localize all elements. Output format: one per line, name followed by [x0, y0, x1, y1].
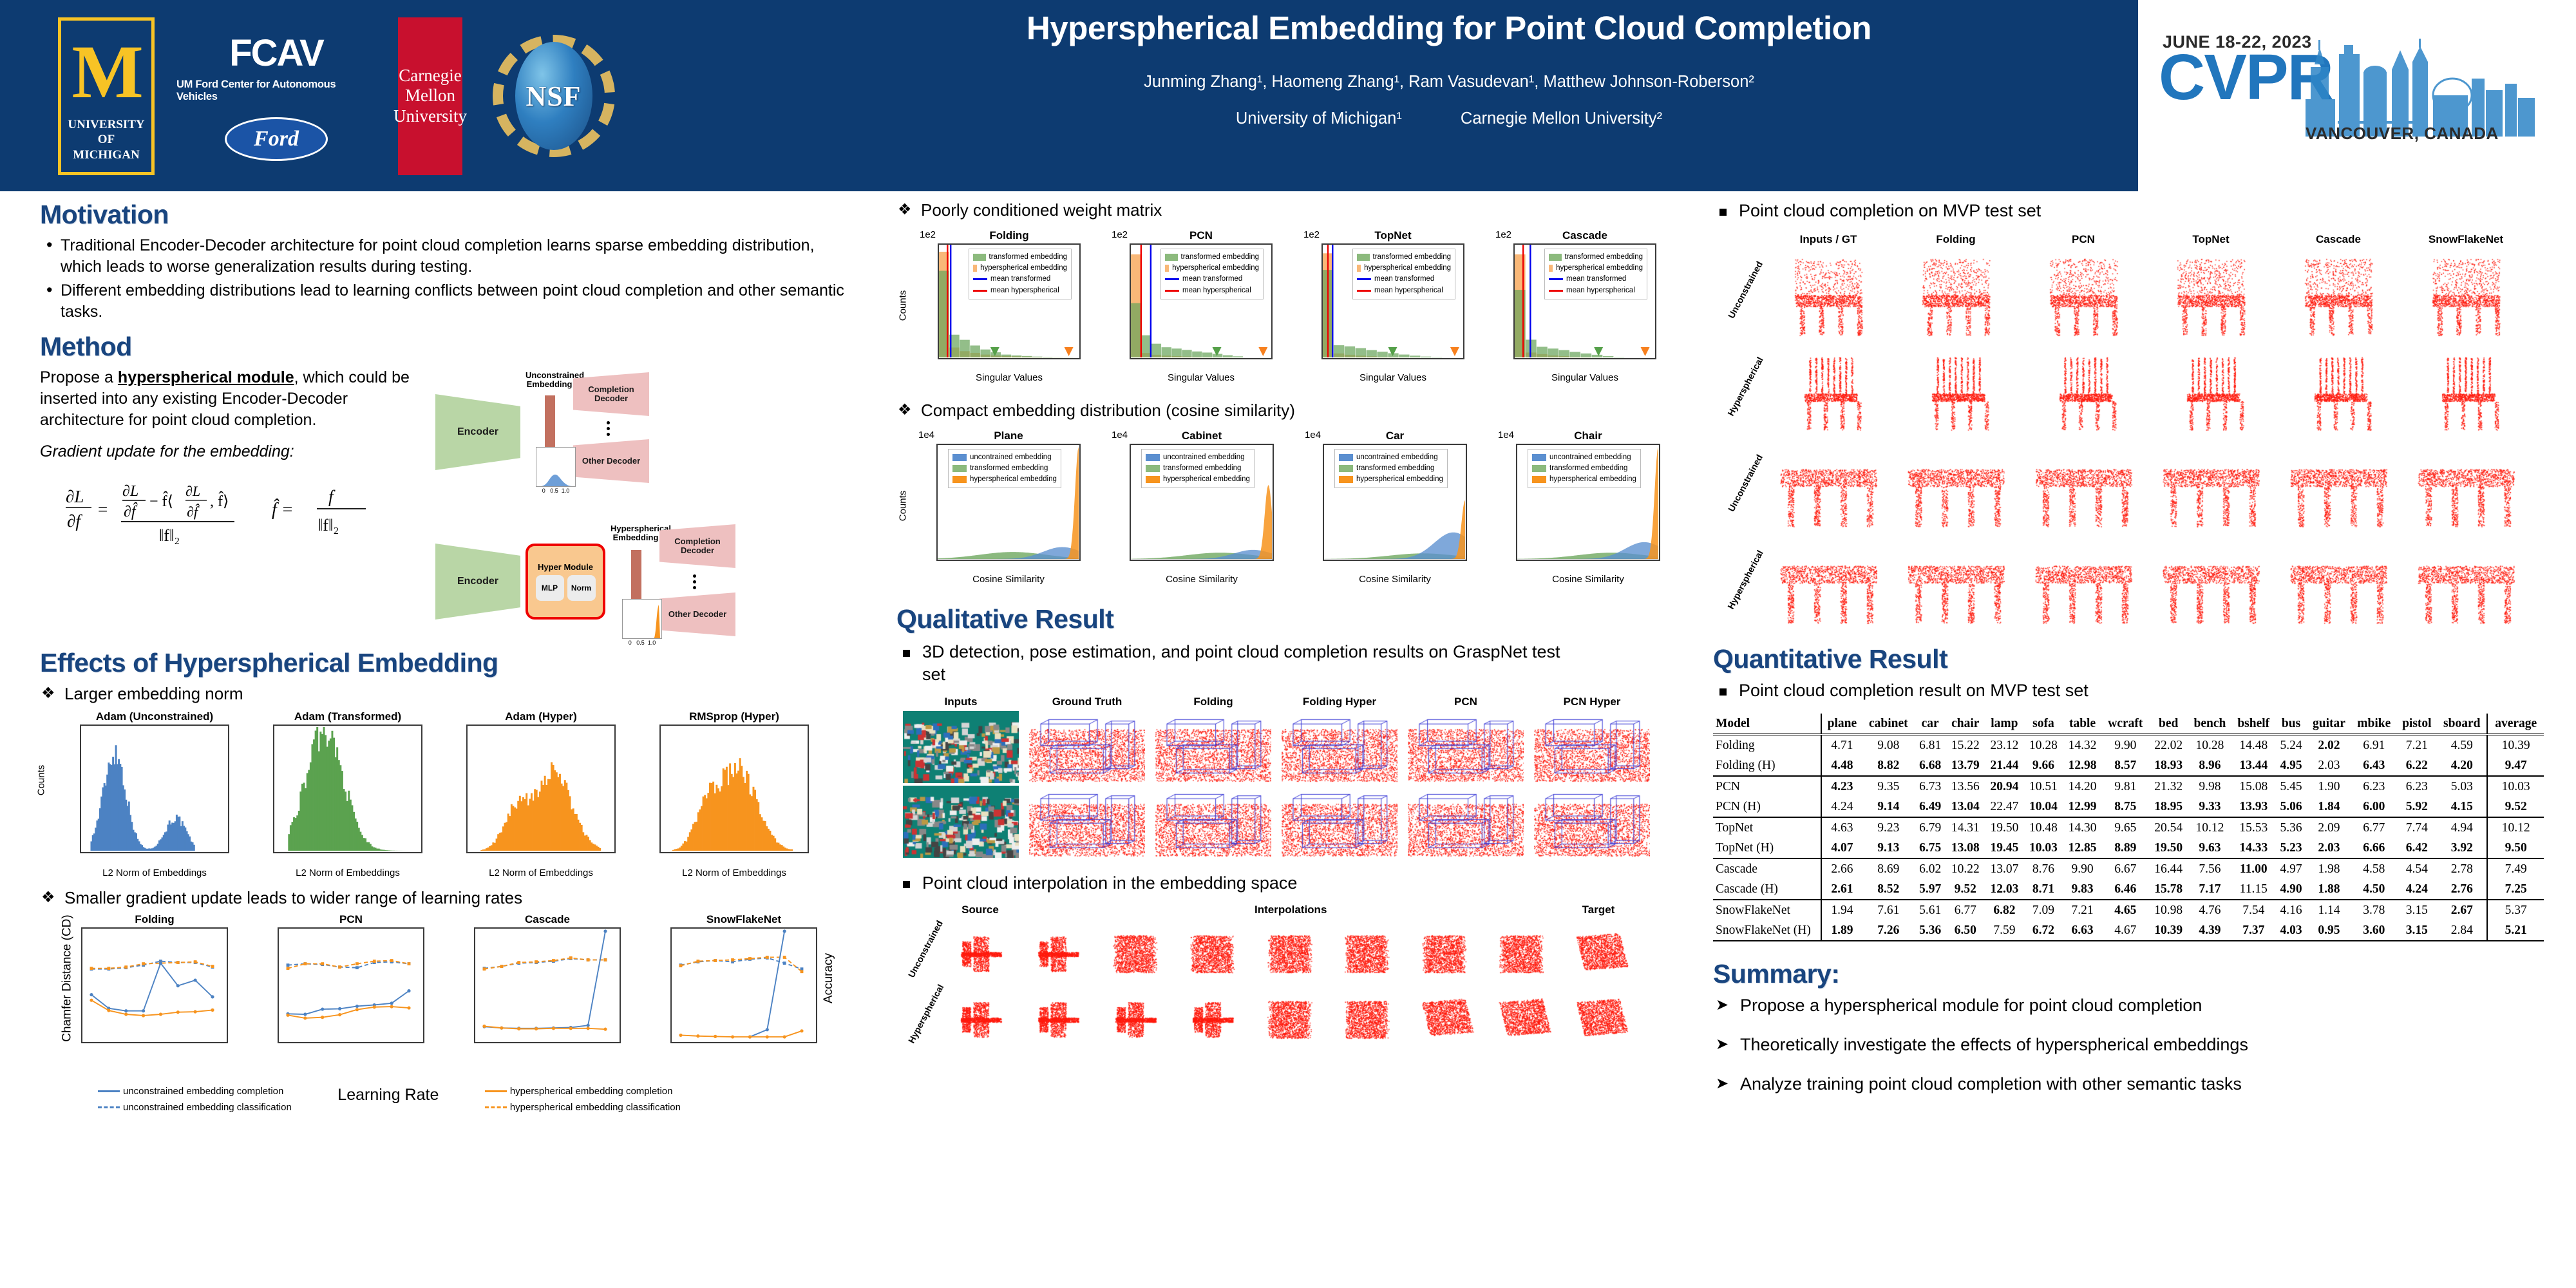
- x-axis-label: L2 Norm of Embeddings: [466, 867, 616, 878]
- method-paragraph: Propose a hyperspherical module, which c…: [40, 367, 426, 431]
- mvp-cell: [1768, 344, 1888, 439]
- lr-legend-blue: unconstrained embedding completionuncons…: [98, 1083, 292, 1116]
- table-cell: 3.92: [2437, 838, 2487, 858]
- legend-swatch-icon: [973, 254, 986, 261]
- x-axis-label: Singular Values: [1513, 372, 1656, 383]
- graspnet-row: [903, 711, 1689, 783]
- norm-box: Norm: [567, 575, 596, 601]
- table-cell: 4.24: [1821, 797, 1862, 817]
- table-cell: 14.48: [2231, 735, 2275, 756]
- mlp-box: MLP: [536, 575, 564, 601]
- mini-hist-ticks-2: 0 0.5 1.0: [622, 639, 662, 646]
- table-cell: 7.17: [2188, 879, 2231, 900]
- table-cell: 5.03: [2437, 776, 2487, 797]
- um-m-glyph: M: [71, 36, 140, 108]
- mvp-cell: [1768, 440, 1888, 536]
- svg-text:∂L: ∂L: [185, 483, 200, 499]
- table-cell: 7.37: [2231, 920, 2275, 942]
- legend-label: uncontrained embedding: [1356, 452, 1438, 463]
- table-cell: 1.14: [2307, 900, 2351, 920]
- table-cell: 5.06: [2275, 797, 2307, 817]
- table-cell: 13.08: [1946, 838, 1985, 858]
- graspnet-cell: [1282, 711, 1397, 783]
- affiliation-2: Carnegie Mellon University²: [1461, 109, 1662, 128]
- legend-swatch-icon: [1146, 454, 1160, 461]
- table-cell: 9.81: [2102, 776, 2149, 797]
- table-cell: 1.98: [2307, 858, 2351, 879]
- fcav-wordmark: FCAV: [229, 32, 323, 75]
- table-cell: 9.63: [2188, 838, 2231, 858]
- gradient-update-label: Gradient update for the embedding:: [40, 441, 426, 462]
- point-cloud-canvas: [1534, 711, 1650, 783]
- plot-area: 020040060080050010001500: [466, 724, 616, 853]
- table-cell: 10.28: [2188, 735, 2231, 756]
- legend-label: uncontrained embedding: [970, 452, 1052, 463]
- interp-cell: [1100, 989, 1170, 1050]
- table-cell: 12.99: [2063, 797, 2102, 817]
- mvp-bullet: Point cloud completion on MVP test set: [1713, 200, 2544, 223]
- legend-label: transformed embedding: [1565, 252, 1643, 263]
- table-cell: 8.96: [2188, 755, 2231, 776]
- method-para-emphasis: hyperspherical module: [118, 368, 294, 386]
- interp-cell: [1023, 923, 1092, 985]
- y-exponent: 1e4: [1498, 430, 1514, 440]
- table-cell: 5.21: [2487, 920, 2544, 942]
- table-cell: 9.35: [1862, 776, 1915, 797]
- graspnet-col-label: Folding: [1155, 696, 1271, 708]
- y-exponent: 1e2: [1303, 229, 1320, 240]
- legend-label: transformed embedding: [970, 463, 1048, 474]
- graspnet-row: [903, 786, 1689, 858]
- plot-area: 02004006008001.01.52.0: [80, 724, 229, 853]
- interp-cell: [1100, 923, 1170, 985]
- table-cell: 5.45: [2275, 776, 2307, 797]
- table-cell: 4.03: [2275, 920, 2307, 942]
- interp-cell: [1255, 923, 1324, 985]
- mvp-col-label: Inputs / GT: [1768, 233, 1888, 246]
- legend-swatch-icon: [1357, 254, 1370, 261]
- table-cell: 6.77: [2351, 817, 2396, 838]
- legend-row: transformed embedding: [1549, 252, 1643, 263]
- plot-area: 024680.40.60.81.0uncontrained embeddingt…: [936, 444, 1081, 561]
- page-title: Hyperspherical Embedding for Point Cloud…: [837, 9, 2061, 47]
- table-cell: 6.72: [2024, 920, 2063, 942]
- table-cell: 1.94: [1821, 900, 1862, 920]
- table-cell: 6.02: [1915, 858, 1946, 879]
- graspnet-cell: [1029, 711, 1145, 783]
- embedding-norm-panel-0: Adam (Unconstrained)02004006008001.01.52…: [40, 710, 233, 878]
- table-cell: 7.56: [2188, 858, 2231, 879]
- table-cell: 4.39: [2188, 920, 2231, 942]
- sponsor-logos: M UNIVERSITY OF MICHIGAN FCAV UM Ford Ce…: [58, 12, 623, 180]
- column-header: Model: [1713, 714, 1821, 735]
- table-cell: 6.50: [1946, 920, 1985, 942]
- table-cell: 13.79: [1946, 755, 1985, 776]
- interp-col-headers: SourceInterpolationsTarget: [945, 904, 1689, 919]
- table-header-row: Modelplanecabinetcarchairlampsofatablewc…: [1713, 714, 2544, 735]
- point-cloud-canvas: [2023, 440, 2143, 536]
- table-cell: 6.75: [1915, 838, 1946, 858]
- y-axis-label-right: Accuracy: [822, 953, 836, 1003]
- point-cloud-canvas: [2023, 344, 2143, 439]
- column-left: Motivation Traditional Encoder-Decoder a…: [40, 200, 851, 1116]
- legend-row: hyperspherical embedding classification: [485, 1099, 681, 1116]
- singular-panel-3: 1e2Cascade024051015transformed embedding…: [1472, 229, 1664, 383]
- x-axis-label: Singular Values: [938, 372, 1081, 383]
- legend-row: hyperspherical embedding: [1339, 474, 1443, 485]
- legend-row: hyperspherical embedding completion: [485, 1083, 681, 1100]
- panel-legend: uncontrained embeddingtransformed embedd…: [1334, 449, 1448, 489]
- column-header: bed: [2149, 714, 2188, 735]
- legend-swatch-icon: [1357, 265, 1361, 272]
- vertical-dots-icon: [607, 421, 610, 436]
- column-middle: Poorly conditioned weight matrix 1e2Fold…: [896, 200, 1689, 1050]
- table-cell: 0.95: [2307, 920, 2351, 942]
- legend-label: mean hyperspherical: [1374, 285, 1443, 296]
- table-cell: 10.98: [2149, 900, 2188, 920]
- mvp-col-headers: Inputs / GTFoldingPCNTopNetCascadeSnowFl…: [1768, 233, 2544, 246]
- mvp-cell: [1896, 537, 2016, 632]
- interp-col-label: Interpolations: [1255, 904, 1324, 916]
- table-cell: 4.07: [1821, 838, 1862, 858]
- column-header: cabinet: [1862, 714, 1915, 735]
- quantitative-heading: Quantitative Result: [1713, 644, 2544, 674]
- panel-title: Plane: [936, 430, 1081, 442]
- mvp-col-label: Folding: [1896, 233, 2016, 246]
- table-cell: 10.12: [2487, 817, 2544, 838]
- completion-decoder-unconstrained: Completion Decoder: [573, 372, 649, 416]
- interp-cell: [1255, 989, 1324, 1050]
- legend-label: uncontrained embedding: [1549, 452, 1631, 463]
- legend-line-icon: [485, 1090, 507, 1092]
- table-cell: 14.32: [2063, 735, 2102, 756]
- cosine-panel-0: 1e4Plane024680.40.60.81.0uncontrained em…: [896, 430, 1090, 585]
- summary-heading: Summary:: [1713, 959, 2544, 989]
- graspnet-col-label: PCN: [1408, 696, 1524, 708]
- table-row: Folding4.719.086.8115.2223.1210.2814.329…: [1713, 735, 2544, 756]
- point-cloud-canvas: [1100, 923, 1170, 985]
- carnegie-mellon-logo: Carnegie Mellon University: [398, 17, 462, 175]
- point-cloud-canvas: [1896, 247, 2016, 343]
- table-cell: 5.37: [2487, 900, 2544, 920]
- x-axis-label: L2 Norm of Embeddings: [659, 867, 809, 878]
- legend-row: unconstrained embedding completion: [98, 1083, 292, 1100]
- table-cell: 6.66: [2351, 838, 2396, 858]
- x-axis-label: Singular Values: [1321, 372, 1464, 383]
- lr-legend: unconstrained embedding completionuncons…: [98, 1083, 851, 1116]
- nsf-logo: NSF: [484, 27, 623, 166]
- legend-label: hyperspherical embedding: [1549, 474, 1636, 485]
- legend-label: mean transformed: [990, 274, 1050, 285]
- plot-area: 808590952e-055e-050.00010.00020.00050.00…: [670, 927, 817, 1043]
- motivation-bullet-2: Different embedding distributions lead t…: [40, 280, 851, 323]
- point-cloud-canvas: [1534, 786, 1650, 858]
- table-cell: 21.44: [1985, 755, 2024, 776]
- gradient-formula-svg: ∂L ∂f = ∂L ∂f̂ − f̂⟨ ∂L ∂f̂ , f̂⟩ ‖f‖₂ f…: [66, 469, 394, 546]
- model-name-cell: SnowFlakeNet (H): [1713, 920, 1821, 942]
- learning-rate-charts: Folding6121824302e-055e-050.00010.00020.…: [40, 913, 851, 1116]
- model-name-cell: TopNet (H): [1713, 838, 1821, 858]
- legend-row: hyperspherical embedding: [1357, 263, 1451, 274]
- panel-legend: transformed embeddinghyperspherical embe…: [1544, 249, 1647, 299]
- poster-header: M UNIVERSITY OF MICHIGAN FCAV UM Ford Ce…: [0, 0, 2576, 191]
- table-cell: 7.74: [2397, 817, 2438, 838]
- legend-label: unconstrained embedding completion: [123, 1083, 283, 1100]
- cmu-line2: Mellon: [405, 86, 455, 106]
- graspnet-col-label: Folding Hyper: [1282, 696, 1397, 708]
- mvp-row: Hyperspherical: [1768, 344, 2544, 439]
- interp-cell: [945, 989, 1015, 1050]
- model-name-cell: SnowFlakeNet: [1713, 900, 1821, 920]
- summary-item-3: Analyze training point cloud completion …: [1713, 1073, 2544, 1095]
- interp-cell: [945, 923, 1015, 985]
- model-name-cell: Cascade: [1713, 858, 1821, 879]
- interpolation-figure: SourceInterpolationsTargetUnconstrainedH…: [896, 904, 1689, 1050]
- table-cell: 22.02: [2149, 735, 2188, 756]
- plot-area: 024051015transformed embeddinghyperspher…: [1513, 243, 1656, 359]
- interp-cell: [1332, 923, 1401, 985]
- table-cell: 9.08: [1862, 735, 1915, 756]
- point-cloud-canvas: [2406, 247, 2526, 343]
- y-exponent: 1e2: [1495, 229, 1511, 240]
- table-cell: 9.65: [2102, 817, 2149, 838]
- point-cloud-canvas: [1177, 923, 1247, 985]
- svg-text:‖f‖₂: ‖f‖₂: [318, 516, 339, 535]
- legend-swatch-icon: [1165, 265, 1169, 272]
- table-cell: 6.73: [1915, 776, 1946, 797]
- um-line1: UNIVERSITY OF: [61, 117, 151, 148]
- legend-row: transformed embedding: [1165, 252, 1259, 263]
- point-cloud-canvas: [1029, 786, 1145, 858]
- table-cell: 19.50: [1985, 817, 2024, 838]
- legend-label: hyperspherical embedding: [1163, 474, 1250, 485]
- table-cell: 7.21: [2063, 900, 2102, 920]
- mvp-col-label: Cascade: [2278, 233, 2398, 246]
- table-cell: 2.84: [2437, 920, 2487, 942]
- legend-row: mean transformed: [973, 274, 1067, 285]
- point-cloud-canvas: [1564, 923, 1633, 985]
- panel-title: Cascade: [474, 913, 621, 926]
- method-body: Propose a hyperspherical module, which c…: [40, 367, 851, 641]
- legend-swatch-icon: [973, 278, 987, 280]
- summary-item-1: Propose a hyperspherical module for poin…: [1713, 994, 2544, 1017]
- table-cell: 9.50: [2487, 838, 2544, 858]
- table-cell: 9.98: [2188, 776, 2231, 797]
- author-list: Junming Zhang¹, Haomeng Zhang¹, Ram Vasu…: [837, 73, 2061, 91]
- legend-row: transformed embedding: [973, 252, 1067, 263]
- table-cell: 8.76: [2024, 858, 2063, 879]
- column-header: bench: [2188, 714, 2231, 735]
- table-cell: 15.08: [2231, 776, 2275, 797]
- column-header: average: [2487, 714, 2544, 735]
- mvp-row-label: Hyperspherical: [1725, 547, 1766, 611]
- interp-cell: [1409, 989, 1479, 1050]
- legend-row: mean hyperspherical: [1165, 285, 1259, 296]
- table-cell: 19.50: [2149, 838, 2188, 858]
- legend-swatch-icon: [973, 265, 977, 272]
- mvp-row-label: Hyperspherical: [1725, 354, 1766, 418]
- method-text-block: Propose a hyperspherical module, which c…: [40, 367, 426, 641]
- point-cloud-canvas: [1023, 923, 1092, 985]
- table-cell: 6.23: [2397, 776, 2438, 797]
- mvp-cell: [2151, 344, 2271, 439]
- legend-swatch-icon: [1339, 476, 1353, 483]
- table-cell: 4.50: [2351, 879, 2396, 900]
- graspnet-cell: [903, 786, 1019, 858]
- point-cloud-canvas: [1409, 923, 1479, 985]
- um-line2: MICHIGAN: [61, 147, 151, 163]
- graspnet-cell: [903, 711, 1019, 783]
- quantitative-results-table: Modelplanecabinetcarchairlampsofatablewc…: [1713, 714, 2544, 942]
- plot-area: 2e-055e-050.00010.00020.00050.0010.0020.…: [278, 927, 424, 1043]
- legend-swatch-icon: [1549, 254, 1562, 261]
- cosine-similarity-charts: 1e4Plane024680.40.60.81.0uncontrained em…: [896, 430, 1689, 585]
- qualitative-bullet-1: 3D detection, pose estimation, and point…: [896, 641, 1579, 687]
- table-cell: 16.44: [2149, 858, 2188, 879]
- mvp-cell: [1896, 440, 2016, 536]
- effects-sub2: Smaller gradient update leads to wider r…: [40, 887, 851, 909]
- mini-hist-blue-icon: [536, 448, 576, 488]
- table-cell: 20.54: [2149, 817, 2188, 838]
- model-name-cell: TopNet: [1713, 817, 1821, 838]
- mvp-cell: [2151, 440, 2271, 536]
- table-cell: 4.76: [2188, 900, 2231, 920]
- panel-title: Car: [1323, 430, 1467, 442]
- legend-label: hyperspherical embedding: [980, 263, 1067, 274]
- table-cell: 4.63: [1821, 817, 1862, 838]
- table-cell: 7.61: [1862, 900, 1915, 920]
- mvp-cell: [2023, 440, 2143, 536]
- encoder-block-unconstrained: Encoder: [435, 394, 520, 470]
- legend-label: mean transformed: [1566, 274, 1626, 285]
- panel-title: SnowFlakeNet: [670, 913, 817, 926]
- encoder-label-2: Encoder: [457, 576, 498, 587]
- table-cell: 6.46: [2102, 879, 2149, 900]
- legend-label: transformed embedding: [1163, 463, 1241, 474]
- legend-swatch-icon: [1549, 278, 1563, 280]
- interp-cell: [1023, 989, 1092, 1050]
- table-cell: 4.23: [1821, 776, 1862, 797]
- graspnet-cell: [1155, 786, 1271, 858]
- panel-title: Adam (Hyper): [466, 710, 616, 723]
- table-cell: 6.79: [1915, 817, 1946, 838]
- table-cell: 6.63: [2063, 920, 2102, 942]
- plot-area: 020040060080020304050: [659, 724, 809, 853]
- table-cell: 5.36: [1915, 920, 1946, 942]
- svg-text:f̂ =: f̂ =: [272, 499, 294, 520]
- graspnet-cell: [1282, 786, 1397, 858]
- table-cell: 4.90: [2275, 879, 2307, 900]
- table-row: PCN4.239.356.7313.5620.9410.5114.209.812…: [1713, 776, 2544, 797]
- svg-text:∂f̂: ∂f̂: [187, 504, 200, 520]
- table-cell: 2.61: [1821, 879, 1862, 900]
- table-cell: 15.22: [1946, 735, 1985, 756]
- embedding-norm-panel-1: Adam (Transformed)0200400600800234L2 Nor…: [233, 710, 426, 878]
- rgb-scene-canvas: [903, 711, 1019, 783]
- y-axis-label: Counts: [35, 765, 46, 796]
- svg-text:‖f‖₂: ‖f‖₂: [159, 526, 180, 545]
- plot-area: 024680.40.60.81.0uncontrained embeddingt…: [1516, 444, 1660, 561]
- mvp-cell: [2278, 537, 2398, 632]
- mvp-col-label: SnowFlakeNet: [2406, 233, 2526, 246]
- table-row: TopNet (H)4.079.136.7513.0819.4510.0312.…: [1713, 838, 2544, 858]
- cosine-panel-2: 1e4Car024680.40.60.81.0uncontrained embe…: [1283, 430, 1476, 585]
- legend-row: uncontrained embedding: [1532, 452, 1636, 463]
- table-cell: 9.52: [2487, 797, 2544, 817]
- graspnet-cell: [1155, 711, 1271, 783]
- table-cell: 6.00: [2351, 797, 2396, 817]
- table-cell: 6.67: [2102, 858, 2149, 879]
- unconstrained-mini-histogram: 0 0.5 1.0: [536, 447, 576, 494]
- legend-label: unconstrained embedding classification: [123, 1099, 292, 1116]
- affiliation-list: University of Michigan¹ Carnegie Mellon …: [837, 109, 2061, 128]
- table-cell: 4.20: [2437, 755, 2487, 776]
- mini-hist-orange-icon: [623, 600, 663, 639]
- legend-swatch-icon: [952, 476, 967, 483]
- graspnet-cell: [1534, 711, 1650, 783]
- table-cell: 4.15: [2437, 797, 2487, 817]
- cosine-section-label: Compact embedding distribution (cosine s…: [896, 400, 1689, 422]
- mvp-cell: [2151, 537, 2271, 632]
- interp-row: Unconstrained: [945, 923, 1689, 985]
- graspnet-cell: [1408, 786, 1524, 858]
- x-axis-label: Cosine Similarity: [1130, 574, 1274, 585]
- point-cloud-canvas: [2278, 247, 2398, 343]
- column-header: bus: [2275, 714, 2307, 735]
- column-header: pistol: [2397, 714, 2438, 735]
- interp-cell: [1177, 989, 1247, 1050]
- legend-label: mean hyperspherical: [1182, 285, 1251, 296]
- quantitative-bullet: Point cloud completion result on MVP tes…: [1713, 679, 2544, 703]
- panel-title: RMSprop (Hyper): [659, 710, 809, 723]
- table-row: Folding (H)4.488.826.6813.7921.449.6612.…: [1713, 755, 2544, 776]
- table-cell: 8.82: [1862, 755, 1915, 776]
- cvpr-city: VANCOUVER, CANADA: [2306, 124, 2499, 144]
- table-cell: 18.93: [2149, 755, 2188, 776]
- fcav-subtitle: UM Ford Center for Autonomous Vehicles: [176, 79, 376, 103]
- point-cloud-canvas: [1255, 989, 1324, 1050]
- column-right: Point cloud completion on MVP test set I…: [1713, 200, 2544, 1113]
- embedding-bar-hyper: [631, 550, 641, 607]
- table-cell: 6.81: [1915, 735, 1946, 756]
- mvp-row: Unconstrained: [1768, 247, 2544, 343]
- panel-title: TopNet: [1321, 229, 1464, 242]
- fcav-logo: FCAV UM Ford Center for Autonomous Vehic…: [176, 32, 376, 161]
- table-cell: 1.90: [2307, 776, 2351, 797]
- cvpr-logo: JUNE 18-22, 2023 CVPR VANCOUVER, CANADA: [2159, 17, 2545, 165]
- table-cell: 2.03: [2307, 838, 2351, 858]
- other-decoder-hyper: Other Decoder: [659, 592, 735, 636]
- panel-legend: uncontrained embeddingtransformed embedd…: [1528, 449, 1641, 489]
- plot-area: 024680.40.60.81.0uncontrained embeddingt…: [1323, 444, 1467, 561]
- mvp-row-label: Unconstrained: [1725, 451, 1766, 515]
- model-name-cell: PCN (H): [1713, 797, 1821, 817]
- quantitative-table-wrap: Modelplanecabinetcarchairlampsofatablewc…: [1713, 714, 2544, 942]
- legend-row: uncontrained embedding: [1146, 452, 1250, 463]
- table-cell: 4.97: [2275, 858, 2307, 879]
- model-name-cell: Folding: [1713, 735, 1821, 756]
- point-cloud-canvas: [1896, 537, 2016, 632]
- legend-label: hyperspherical embedding: [1356, 474, 1443, 485]
- panel-legend: transformed embeddinghyperspherical embe…: [1352, 249, 1455, 299]
- hyperspherical-architecture: Encoder Hyper Module MLP Norm Hyperspher…: [435, 513, 848, 641]
- point-cloud-canvas: [1282, 786, 1397, 858]
- nsf-wordmark: NSF: [526, 80, 581, 113]
- singular-panel-0: 1e2Folding0.01.53.00102030transformed em…: [896, 229, 1088, 383]
- x-axis-label: Cosine Similarity: [936, 574, 1081, 585]
- y-exponent: 1e4: [918, 430, 934, 440]
- svg-text:∂L: ∂L: [66, 487, 84, 506]
